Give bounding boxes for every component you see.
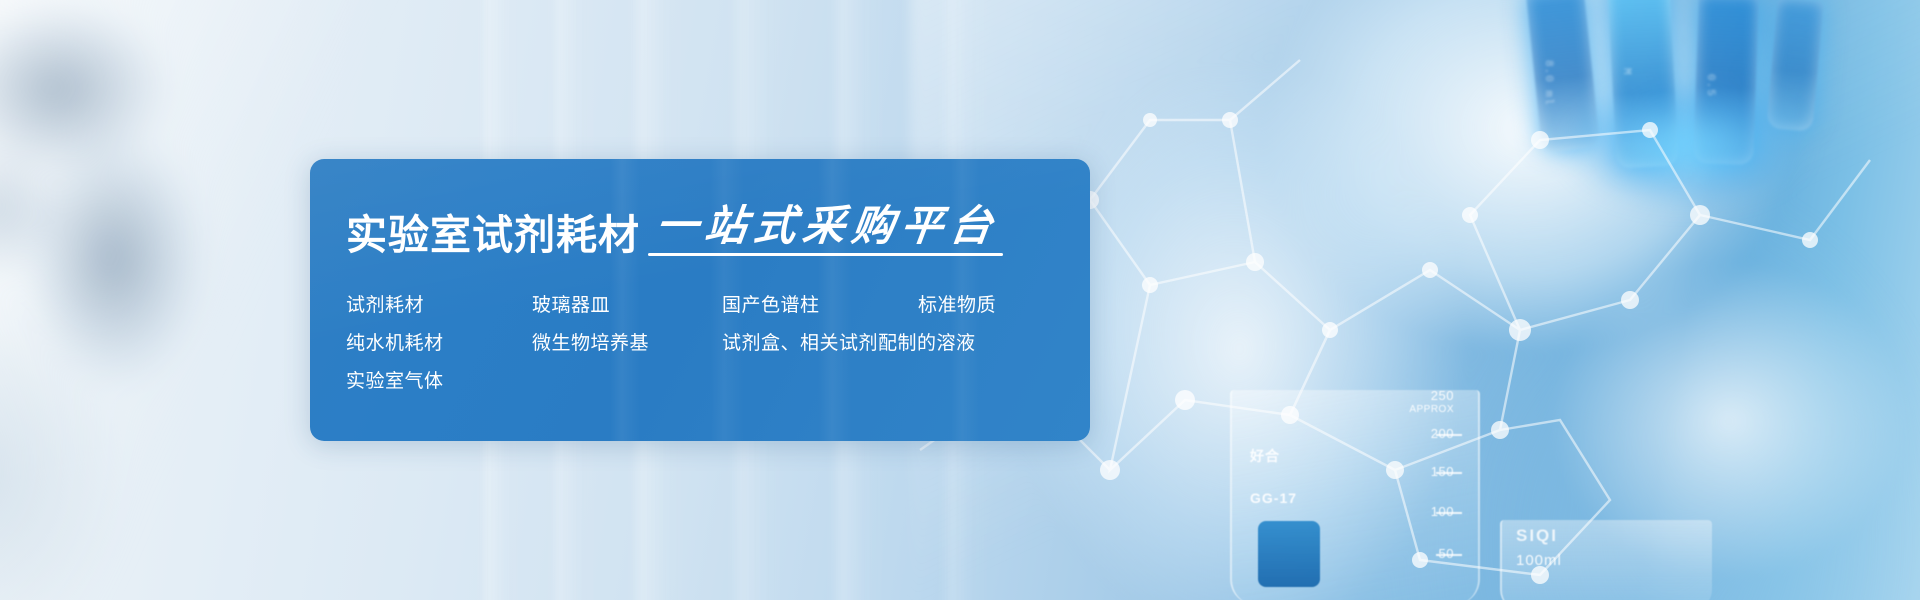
hero-banner: 8.0 ml M 0.5 好合 GG-17 250 APPROX 200 150… bbox=[0, 0, 1920, 600]
category-tag-row: 试剂耗材 玻璃器皿 国产色谱柱 标准物质 bbox=[346, 296, 1090, 315]
headline-script-wrapper: 一站式采购平台 bbox=[656, 205, 999, 256]
beaker-brand-text: 好合 bbox=[1250, 446, 1280, 466]
beaker-approx-label: APPROX bbox=[1409, 404, 1454, 415]
headline-script-text: 一站式采购平台 bbox=[653, 205, 1001, 247]
category-tag-list: 试剂耗材 玻璃器皿 国产色谱柱 标准物质 纯水机耗材 微生物培养基 试剂盒、相关… bbox=[346, 296, 1090, 391]
headline-underline bbox=[648, 253, 1003, 256]
flask-brand-text: SIQI bbox=[1516, 526, 1558, 546]
category-tag-row: 纯水机耗材 微生物培养基 试剂盒、相关试剂配制的溶液 bbox=[346, 334, 1090, 353]
category-tag[interactable]: 标准物质 bbox=[918, 296, 996, 315]
headline-main-text: 实验室试剂耗材 bbox=[346, 215, 640, 256]
beaker-graduation-label: 200 bbox=[1431, 426, 1454, 441]
category-tag[interactable]: 国产色谱柱 bbox=[722, 296, 918, 315]
background-vials: 8.0 ml M 0.5 bbox=[1520, 0, 1920, 250]
category-tag[interactable]: 试剂盒、相关试剂配制的溶液 bbox=[722, 334, 976, 353]
promo-panel: 实验室试剂耗材 一站式采购平台 试剂耗材 玻璃器皿 国产色谱柱 标准物质 纯水机… bbox=[310, 159, 1090, 441]
category-tag[interactable]: 微生物培养基 bbox=[532, 334, 722, 353]
vial-label-text: 8.0 ml bbox=[1542, 60, 1554, 106]
background-beaker: 好合 GG-17 250 APPROX 200 150 100 50 bbox=[1230, 390, 1480, 600]
vial-label-text: M bbox=[1620, 68, 1632, 76]
beaker-liquid bbox=[1258, 521, 1320, 587]
category-tag[interactable]: 纯水机耗材 bbox=[346, 334, 532, 353]
beaker-graduation-label: 50 bbox=[1439, 546, 1454, 561]
vial-label-text: 0.5 bbox=[1704, 74, 1716, 97]
category-tag-row: 实验室气体 bbox=[346, 372, 1090, 391]
category-tag[interactable]: 试剂耗材 bbox=[346, 296, 532, 315]
beaker-graduation-label: 250 bbox=[1431, 388, 1454, 403]
beaker-graduation-label: 100 bbox=[1431, 504, 1454, 519]
vial-glow bbox=[1560, 80, 1810, 210]
beaker-graduation-label: 150 bbox=[1431, 464, 1454, 479]
category-tag[interactable]: 实验室气体 bbox=[346, 372, 532, 391]
flask-volume-text: 100ml bbox=[1516, 552, 1562, 569]
panel-headline: 实验室试剂耗材 一站式采购平台 bbox=[346, 205, 1090, 256]
background-flask: SIQI 100ml bbox=[1500, 520, 1712, 600]
beaker-model-text: GG-17 bbox=[1250, 490, 1297, 506]
category-tag[interactable]: 玻璃器皿 bbox=[532, 296, 722, 315]
